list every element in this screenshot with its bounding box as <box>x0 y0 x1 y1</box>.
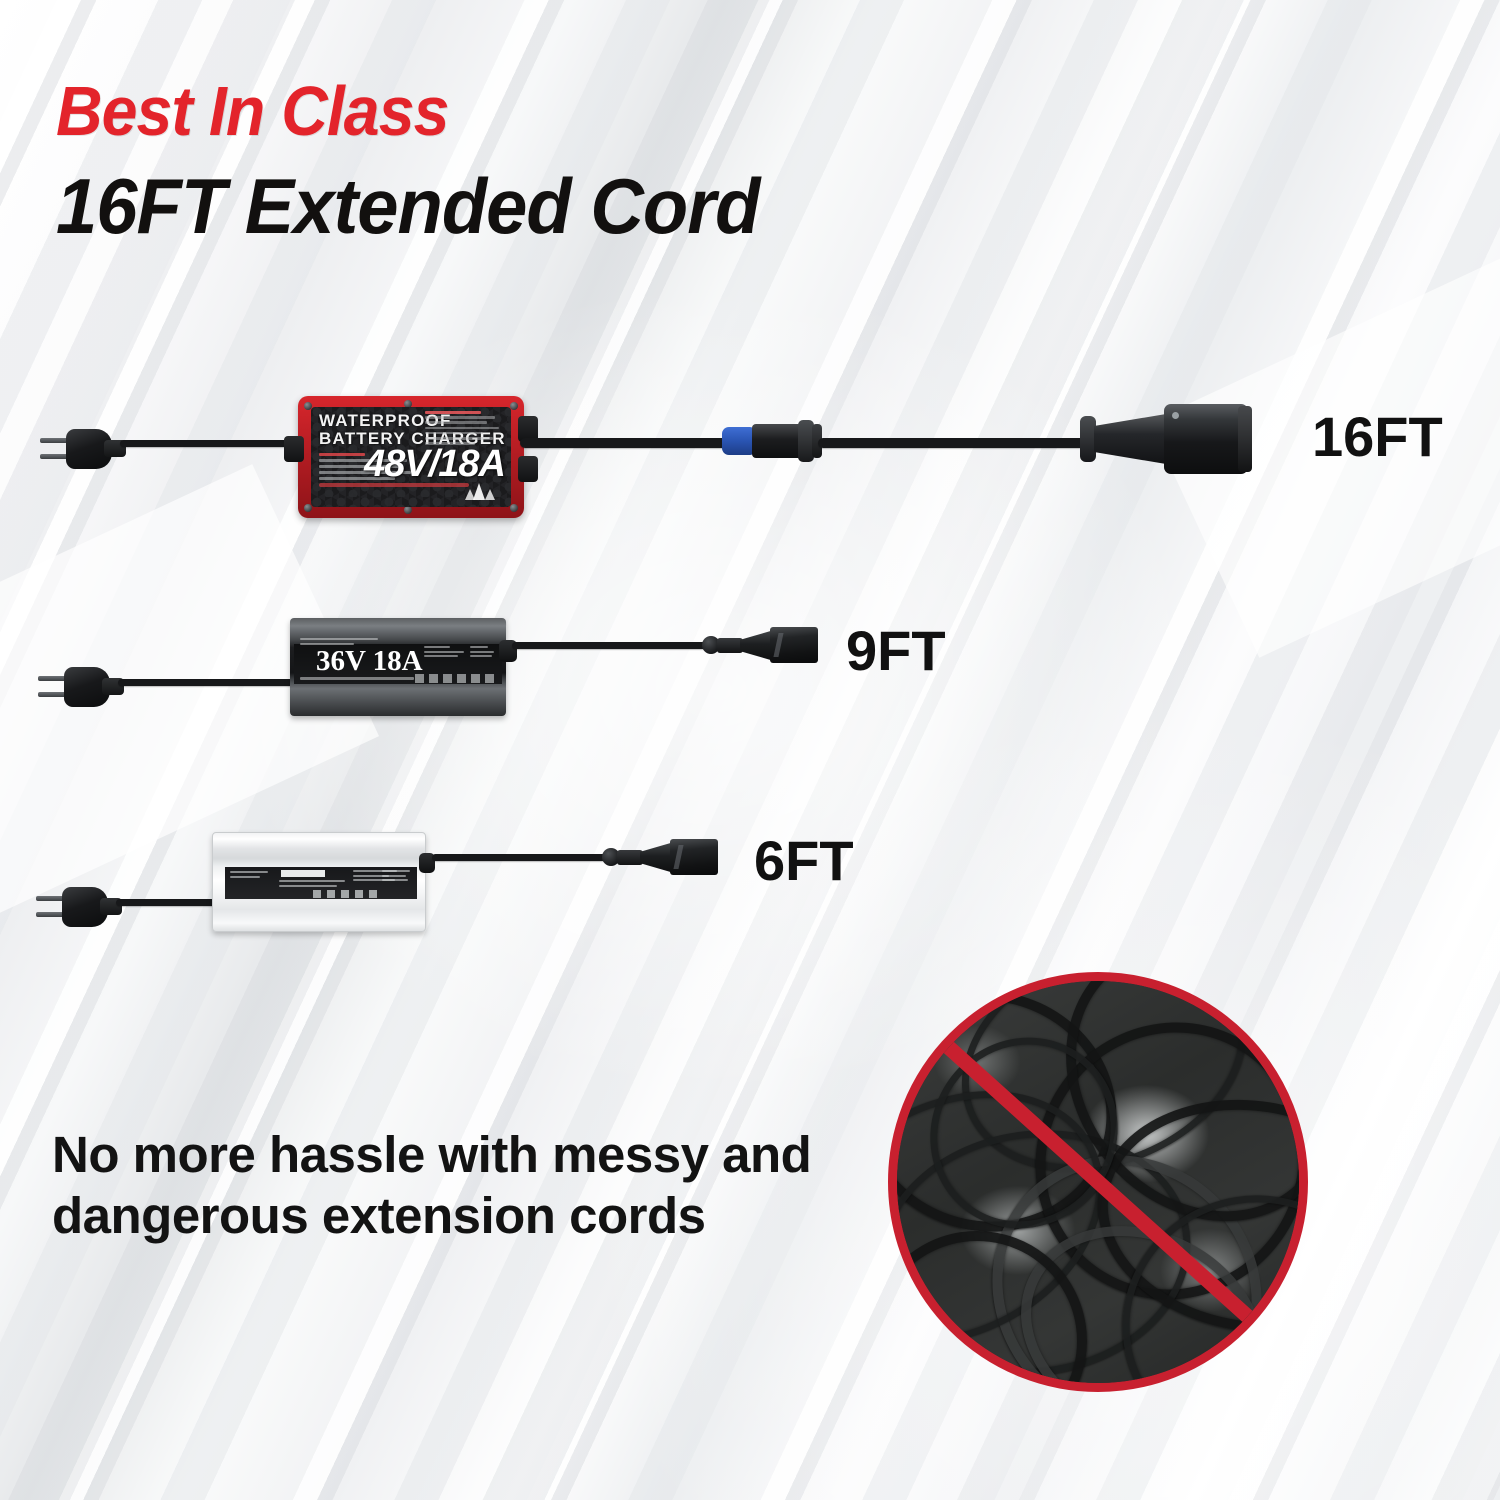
page-title: 16FT Extended Cord <box>56 167 1177 247</box>
cert-icon <box>313 890 321 898</box>
length-label-16ft: 16FT <box>1312 404 1443 469</box>
connector-indicator-dot <box>1172 412 1179 419</box>
charger-faceplate: WATERPROOF BATTERY CHARGER <box>311 407 511 507</box>
spec-line <box>425 437 493 440</box>
cert-icon <box>457 674 466 683</box>
led-label-line <box>470 655 492 657</box>
subtitle-line <box>300 677 414 679</box>
cert-icon <box>429 674 438 683</box>
cert-icon <box>327 890 335 898</box>
cert-icon <box>341 890 349 898</box>
charger-warning-lines <box>382 870 412 884</box>
charger-spec-lines <box>279 880 347 889</box>
product-infographic: Best In Class 16FT Extended Cord WATERPR… <box>0 0 1500 1500</box>
charger-unit-silver <box>212 832 426 932</box>
charger-model-window <box>281 870 325 877</box>
led-label-line <box>424 651 464 653</box>
charger-subtitle-lines <box>300 677 420 682</box>
cert-icon <box>443 674 452 683</box>
certification-icons <box>313 890 377 898</box>
led-label-line <box>424 655 458 657</box>
spec-line <box>425 416 495 419</box>
charger-faceplate <box>225 867 417 899</box>
output-cord-segment-2 <box>818 438 1086 448</box>
warning-line <box>382 870 410 872</box>
spec-line <box>279 880 345 882</box>
ac-input-cord <box>120 440 302 447</box>
charger-led-labels-2 <box>470 646 496 660</box>
headline-block: Best In Class 16FT Extended Cord <box>56 76 1236 247</box>
brand-line <box>300 638 378 640</box>
connector-lip <box>1238 406 1252 472</box>
led-label-line <box>424 646 450 648</box>
ac-input-cord <box>118 679 294 686</box>
spec-line <box>425 427 499 430</box>
spec-line <box>425 421 487 424</box>
warning-line <box>382 875 406 877</box>
charger-spec-block <box>425 411 503 447</box>
charger-faceplate: 36V 18A <box>294 644 502 684</box>
brand-line <box>230 871 268 873</box>
ac-input-cord <box>116 899 216 906</box>
length-label-6ft: 6FT <box>754 828 854 893</box>
warning-line <box>382 879 408 881</box>
charger-unit-48v: WATERPROOF BATTERY CHARGER <box>298 396 524 518</box>
charger-unit-36v: 36V 18A <box>290 618 506 716</box>
cable-gland <box>518 456 538 482</box>
output-cord <box>512 642 710 649</box>
charger-accent-strip <box>319 483 469 487</box>
prohibition-badge <box>888 972 1308 1392</box>
connector-stem <box>617 850 643 865</box>
connector-barrel <box>752 424 804 458</box>
length-label-9ft: 9FT <box>846 618 946 683</box>
cert-icon <box>369 890 377 898</box>
bottom-caption: No more hassle with messy and dangerous … <box>52 1124 872 1246</box>
spec-line <box>425 411 481 414</box>
output-cord-segment-1 <box>520 438 732 448</box>
spec-line <box>279 885 337 887</box>
bottom-caption-line2: dangerous extension cords <box>52 1185 872 1246</box>
bottom-caption-line1: No more hassle with messy and <box>52 1126 811 1183</box>
charger-rating-36v: 36V 18A <box>316 645 423 678</box>
connector-strain-relief <box>1080 416 1096 462</box>
case-screw <box>404 506 412 514</box>
charger-brand-lines <box>230 871 270 880</box>
cert-icon <box>471 674 480 683</box>
charger-led-labels <box>424 646 466 660</box>
connector-blue-cap <box>722 427 754 455</box>
led-label-line <box>470 651 494 653</box>
case-screw <box>510 504 518 512</box>
cert-icon <box>485 674 494 683</box>
brand-logo-icon <box>463 478 497 502</box>
cert-icon <box>355 890 363 898</box>
case-screw <box>510 402 518 410</box>
feature-line <box>319 453 365 456</box>
cert-icon <box>415 674 424 683</box>
led-label-line <box>470 646 488 648</box>
output-cord <box>432 854 610 861</box>
certification-icons <box>415 674 494 683</box>
cable-gland <box>284 436 304 462</box>
spec-line <box>425 432 483 435</box>
brand-line <box>230 876 260 878</box>
connector-stem <box>717 638 743 653</box>
headline-eyebrow: Best In Class <box>56 76 1142 147</box>
